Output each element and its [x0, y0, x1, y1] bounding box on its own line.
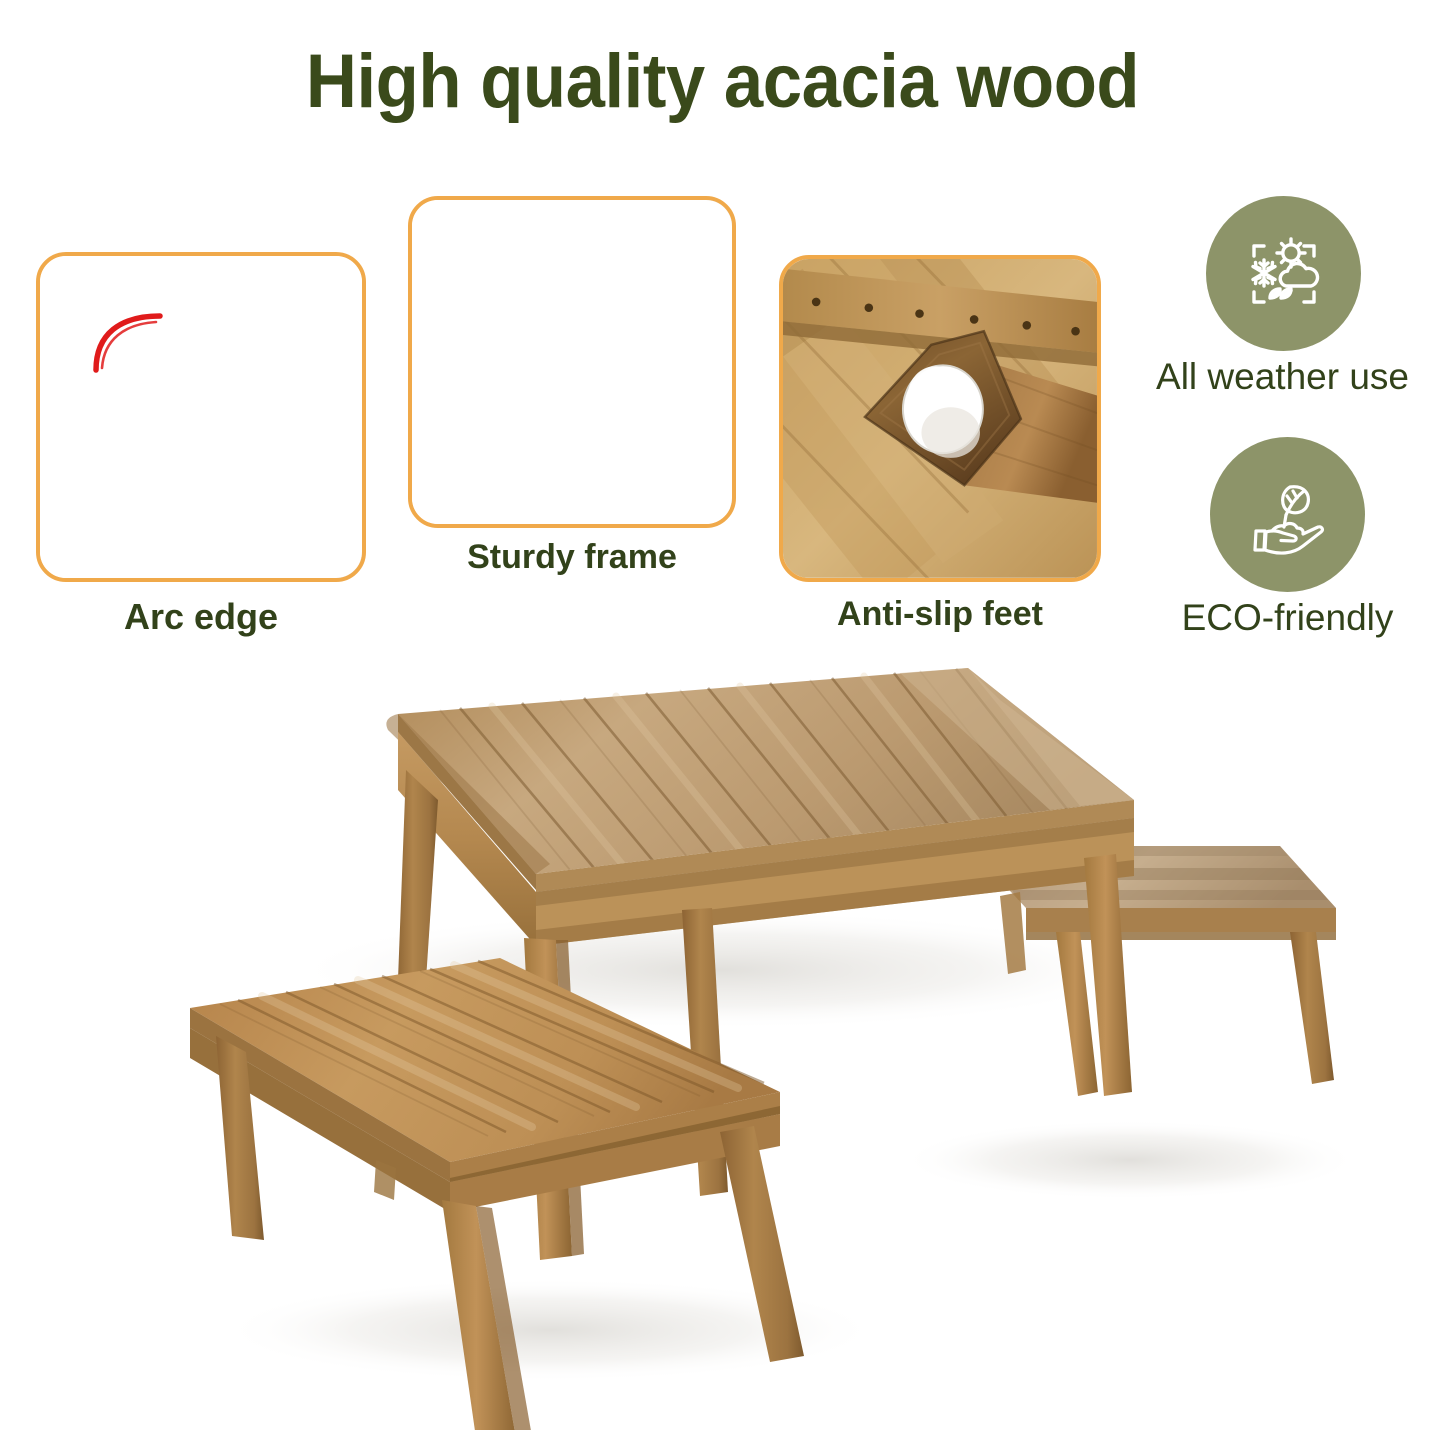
- hand-holding-sprout-icon: [1238, 465, 1338, 565]
- weather-sun-snow-cloud-leaf-icon: [1234, 224, 1334, 324]
- badge-circle-all-weather: [1206, 196, 1361, 351]
- anti-slip-wood-illustration: [783, 259, 1097, 578]
- anti-slip-photo: [783, 259, 1097, 578]
- page-title: High quality acacia wood: [51, 38, 1395, 125]
- arc-edge-photo: [40, 256, 362, 578]
- badge-label-all-weather-use: All weather use: [1120, 356, 1445, 398]
- feature-label-arc-edge: Arc edge: [36, 596, 366, 638]
- arc-edge-photo-frame: [36, 252, 366, 582]
- product-photo-dining-set: [120, 640, 1350, 1430]
- sturdy-frame-photo-frame: [408, 196, 736, 528]
- anti-slip-photo-frame: [779, 255, 1101, 582]
- dining-set-illustration: [120, 640, 1350, 1430]
- badge-label-eco-friendly: ECO-friendly: [1130, 597, 1445, 639]
- badge-circle-eco: [1210, 437, 1365, 592]
- infographic-root: High quality acacia wood: [0, 0, 1445, 1445]
- feature-label-sturdy-frame: Sturdy frame: [408, 538, 736, 577]
- sturdy-frame-photo: [412, 200, 732, 524]
- feature-label-anti-slip-feet: Anti-slip feet: [779, 595, 1101, 634]
